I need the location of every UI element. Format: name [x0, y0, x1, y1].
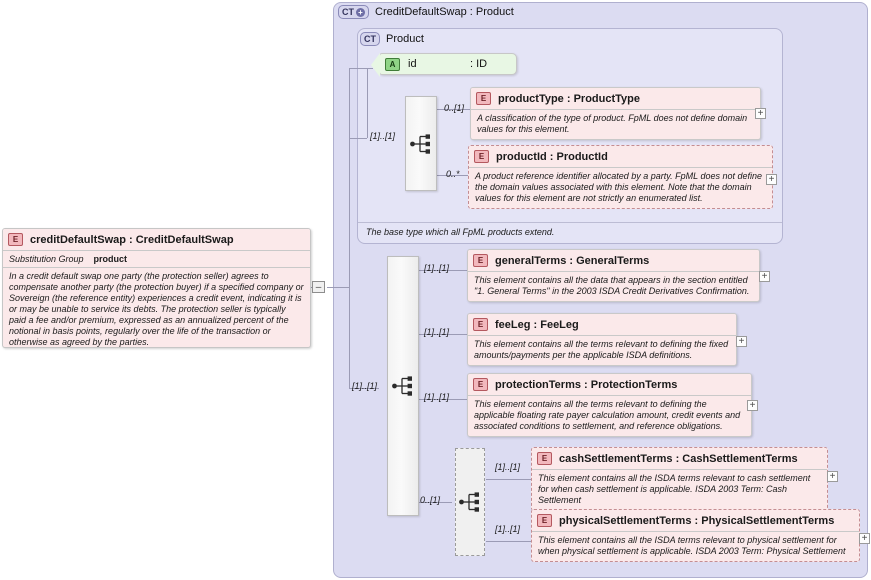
sequence-icon — [410, 134, 432, 154]
substitution-group-row: Substitution Group product — [3, 250, 310, 267]
node-physicalsettlementterms-title: physicalSettlementTerms : PhysicalSettle… — [559, 515, 834, 527]
node-creditdefaultswap-header: E creditDefaultSwap : CreditDefaultSwap — [3, 229, 310, 250]
node-productid[interactable]: E productId : ProductId A product refere… — [468, 145, 773, 209]
outer-container-title-row: CT+ CreditDefaultSwap : Product — [338, 5, 514, 19]
cardinality-sequence-product: [1]..[1] — [370, 131, 395, 141]
ct-badge-label: CT — [342, 8, 354, 17]
node-generalterms-header: E generalTerms : GeneralTerms — [468, 250, 759, 271]
cardinality-producttype: 0..[1] — [444, 103, 464, 113]
compositor-choice-settlement[interactable] — [455, 448, 485, 556]
node-protectionterms-doc: This element contains all the terms rele… — [468, 395, 751, 436]
inner-container-title: Product — [386, 33, 424, 45]
node-creditdefaultswap-title: creditDefaultSwap : CreditDefaultSwap — [30, 234, 234, 246]
cardinality-physicalsettlementterms: [1]..[1] — [495, 524, 520, 534]
complextype-icon[interactable]: CT — [360, 32, 380, 46]
cardinality-cashsettlementterms: [1]..[1] — [495, 462, 520, 472]
node-feeleg-doc: This element contains all the terms rele… — [468, 335, 736, 365]
collapse-button-creditdefaultswap[interactable]: – — [312, 281, 325, 293]
node-productid-doc: A product reference identifier allocated… — [469, 167, 772, 208]
schema-diagram-canvas: CT+ CreditDefaultSwap : Product CT Produ… — [0, 0, 871, 580]
node-cashsettlementterms[interactable]: E cashSettlementTerms : CashSettlementTe… — [531, 447, 828, 511]
expand-button-protectionterms[interactable]: + — [747, 400, 758, 411]
node-producttype-title: productType : ProductType — [498, 93, 640, 105]
connector-to-id-attribute — [349, 68, 373, 69]
connector-trunk-vertical — [349, 68, 350, 288]
element-icon: E — [537, 452, 552, 465]
inner-container-title-row: CT Product — [360, 32, 424, 46]
connector-leftpanel-main — [327, 287, 349, 288]
node-creditdefaultswap-doc: In a credit default swap one party (the … — [3, 267, 310, 348]
node-feeleg-header: E feeLeg : FeeLeg — [468, 314, 736, 335]
attribute-id-type: : ID — [470, 58, 487, 70]
compositor-sequence-product[interactable] — [405, 96, 437, 191]
element-icon: E — [473, 254, 488, 267]
attribute-id-text: id : ID — [408, 58, 487, 70]
cardinality-choice-settlement: 0..[1] — [420, 495, 440, 505]
node-productid-title: productId : ProductId — [496, 151, 608, 163]
node-protectionterms[interactable]: E protectionTerms : ProtectionTerms This… — [467, 373, 752, 437]
element-icon: E — [473, 318, 488, 331]
node-producttype-doc: A classification of the type of product.… — [471, 109, 760, 139]
element-icon: E — [537, 514, 552, 527]
element-icon: E — [476, 92, 491, 105]
attribute-icon: A — [385, 58, 400, 71]
attribute-pentagon-shape — [371, 53, 380, 77]
node-producttype[interactable]: E productType : ProductType A classifica… — [470, 87, 761, 140]
node-producttype-header: E productType : ProductType — [471, 88, 760, 109]
plus-icon: + — [356, 8, 365, 17]
complextype-plus-icon[interactable]: CT+ — [338, 5, 369, 19]
substitution-group-label: Substitution Group — [9, 254, 84, 264]
sequence-icon — [392, 376, 414, 396]
node-feeleg-title: feeLeg : FeeLeg — [495, 319, 579, 331]
connector-branch-product — [367, 68, 368, 138]
compositor-sequence-creditdefaultswap[interactable] — [387, 256, 419, 516]
cardinality-generalterms: [1]..[1] — [424, 263, 449, 273]
expand-button-feeleg[interactable]: + — [736, 336, 747, 347]
connector-to-sequence-product — [349, 138, 367, 139]
base-type-note: The base type which all FpML products ex… — [358, 222, 782, 242]
expand-button-productid[interactable]: + — [766, 174, 777, 185]
expand-button-cashsettlementterms[interactable]: + — [827, 471, 838, 482]
node-physicalsettlementterms-header: E physicalSettlementTerms : PhysicalSett… — [532, 510, 859, 531]
node-generalterms-title: generalTerms : GeneralTerms — [495, 255, 649, 267]
node-creditdefaultswap[interactable]: E creditDefaultSwap : CreditDefaultSwap … — [2, 228, 311, 348]
connector-choice-cash — [486, 479, 531, 480]
outer-container-title: CreditDefaultSwap : Product — [375, 6, 514, 18]
node-generalterms-doc: This element contains all the data that … — [468, 271, 759, 301]
node-productid-header: E productId : ProductId — [469, 146, 772, 167]
node-protectionterms-title: protectionTerms : ProtectionTerms — [495, 379, 677, 391]
element-icon: E — [473, 378, 488, 391]
choice-icon — [459, 492, 481, 512]
node-feeleg[interactable]: E feeLeg : FeeLeg This element contains … — [467, 313, 737, 366]
node-protectionterms-header: E protectionTerms : ProtectionTerms — [468, 374, 751, 395]
node-cashsettlementterms-doc: This element contains all the ISDA terms… — [532, 469, 827, 510]
cardinality-protectionterms: [1]..[1] — [424, 392, 449, 402]
element-icon: E — [474, 150, 489, 163]
node-physicalsettlementterms[interactable]: E physicalSettlementTerms : PhysicalSett… — [531, 509, 860, 562]
cardinality-feeleg: [1]..[1] — [424, 327, 449, 337]
attribute-id-name: id — [408, 58, 470, 70]
connector-trunk-down — [349, 287, 350, 388]
node-cashsettlementterms-header: E cashSettlementTerms : CashSettlementTe… — [532, 448, 827, 469]
substitution-group-value: product — [94, 254, 128, 264]
attribute-id[interactable]: A id : ID — [379, 53, 517, 75]
node-physicalsettlementterms-doc: This element contains all the ISDA terms… — [532, 531, 859, 561]
expand-button-producttype[interactable]: + — [755, 108, 766, 119]
node-generalterms[interactable]: E generalTerms : GeneralTerms This eleme… — [467, 249, 760, 302]
expand-button-generalterms[interactable]: + — [759, 271, 770, 282]
cardinality-productid: 0..* — [446, 169, 460, 179]
ct-badge-label-inner: CT — [364, 35, 376, 44]
element-icon: E — [8, 233, 23, 246]
expand-button-physicalsettlementterms[interactable]: + — [859, 533, 870, 544]
node-cashsettlementterms-title: cashSettlementTerms : CashSettlementTerm… — [559, 453, 798, 465]
connector-choice-physical — [486, 541, 531, 542]
cardinality-sequence-creditdefaultswap: [1]..[1] — [352, 381, 377, 391]
